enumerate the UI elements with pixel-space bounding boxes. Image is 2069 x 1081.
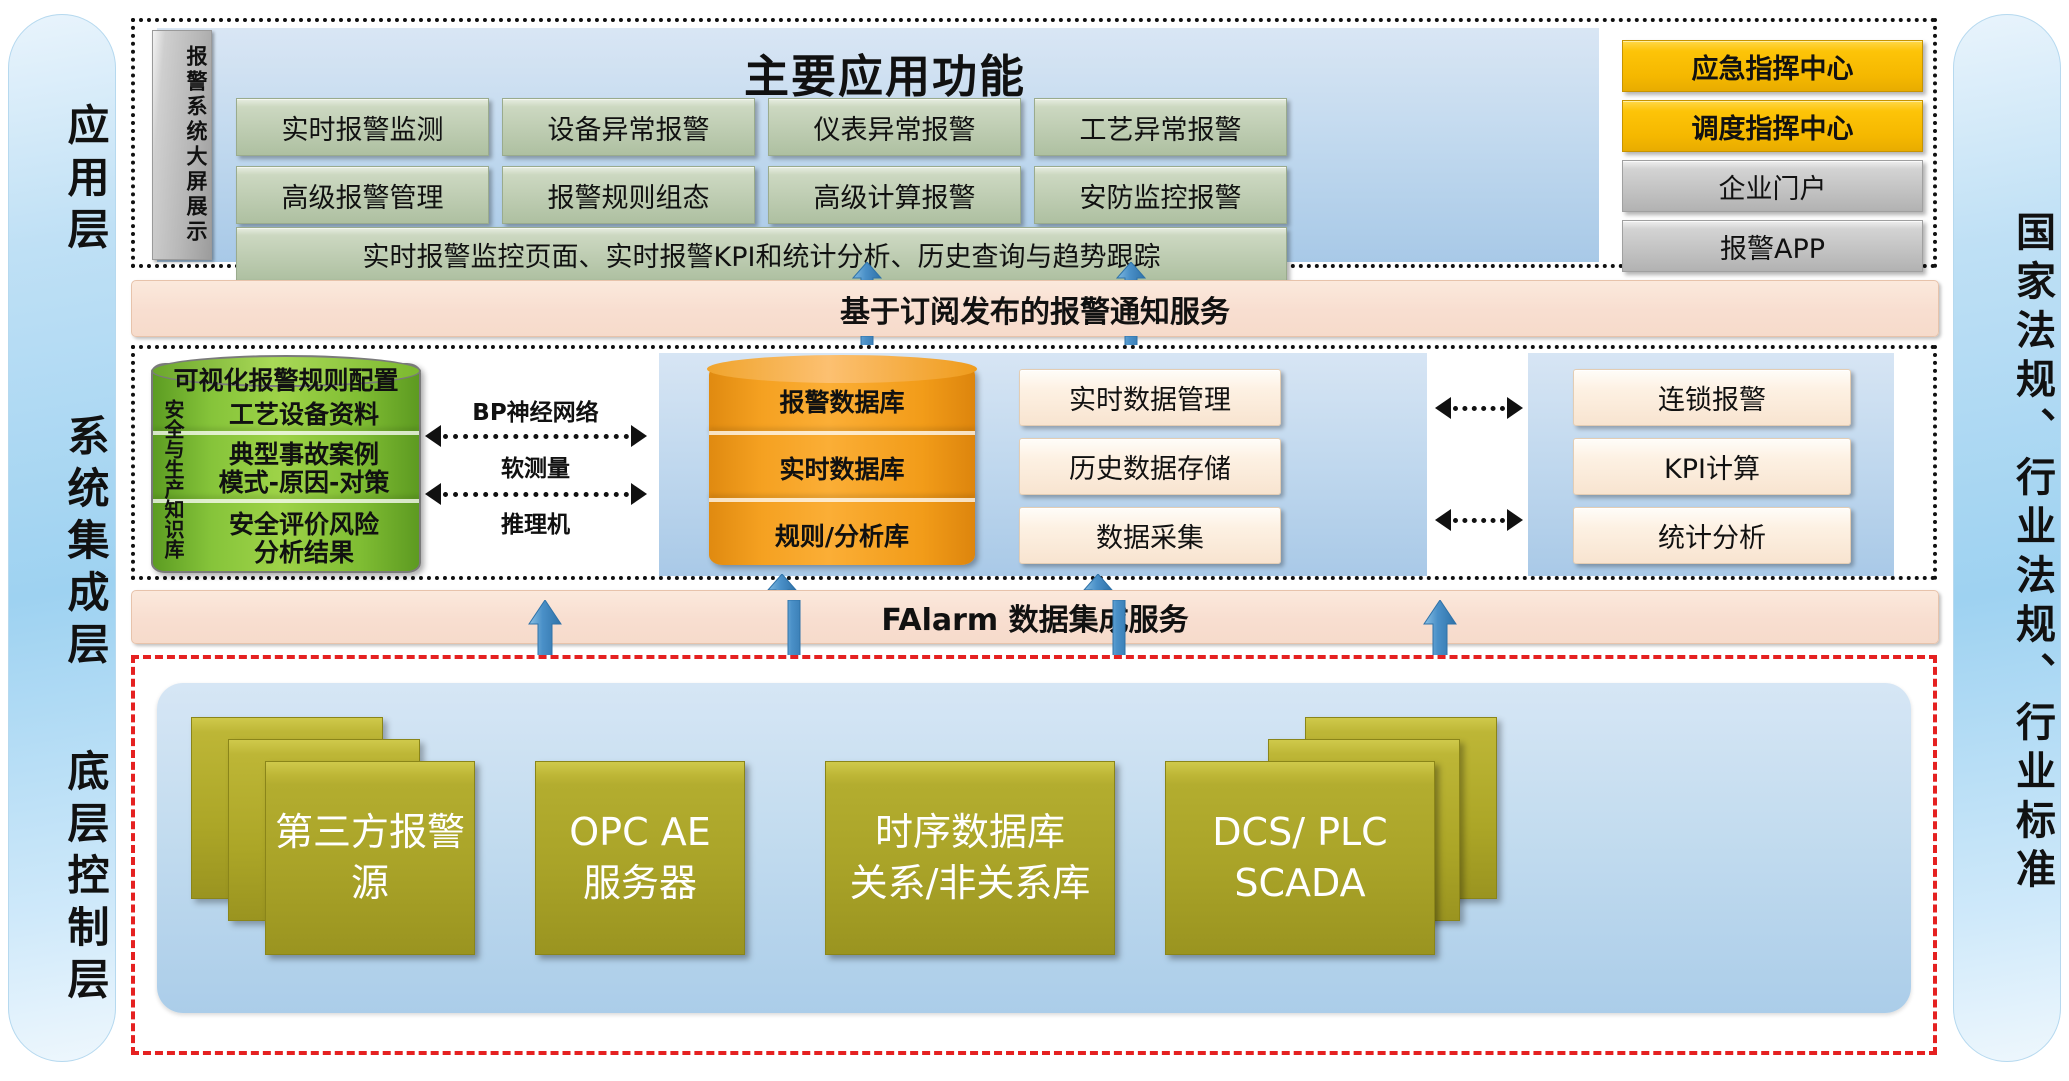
function-button-realtime-alarm-monitor[interactable]: 实时报警监测 [236,98,489,156]
analysis-button-interlock-alarm[interactable]: 连锁报警 [1573,369,1851,426]
source-box-opc-ae-server[interactable]: OPC AE 服务器 [535,761,745,955]
arrowhead-right-icon [631,483,647,505]
source-label-opc-ae-server: OPC AE 服务器 [569,807,710,910]
application-layer-container: 报警系统大屏展示 主要应用功能 实时报警监测 设备异常报警 仪表异常报警 工艺异… [131,18,1937,268]
dotted-line [443,492,629,497]
annotation-soft-measurement: 软测量 [423,449,648,483]
right-button-dispatch-command-center[interactable]: 调度指挥中心 [1622,100,1923,152]
service-button-realtime-data-management[interactable]: 实时数据管理 [1019,369,1281,426]
function-button-alarm-rule-configuration[interactable]: 报警规则组态 [502,166,755,224]
knowledge-base-cylinder[interactable]: 可视化报警规则配置 安全与生产知识库 工艺设备资料 典型事故案例 模式-原因-对… [151,363,421,573]
knowledge-base-side-label: 安全与生产知识库 [159,399,188,567]
analysis-button-kpi-calculation[interactable]: KPI计算 [1573,438,1851,495]
rail-label-application-layer: 应用层 [8,66,116,296]
right-button-emergency-command-center[interactable]: 应急指挥中心 [1622,40,1923,92]
control-layer-container: 第三方报警源 OPC AE 服务器 时序数据库 关系/非关系库 DCS/ PLC… [131,655,1937,1055]
cylinder-divider [709,498,975,502]
arrowhead-left-icon [425,425,441,447]
dotted-arrow-knowledge-left-top [425,425,647,447]
alarm-database-cylinder[interactable]: 报警数据库 实时数据库 规则/分析库 [709,365,975,565]
cylinder-divider [153,431,419,435]
arrowhead-left-icon [425,483,441,505]
dotted-arrow-center-right-top [1435,397,1523,419]
source-box-timeseries-database[interactable]: 时序数据库 关系/非关系库 [825,761,1115,955]
function-button-process-abnormal-alarm[interactable]: 工艺异常报警 [1034,98,1287,156]
knowledge-segment-accident-cases: 典型事故案例 模式-原因-对策 [189,441,419,497]
big-screen-label: 报警系统大屏展示 [153,45,211,245]
dotted-line [1453,406,1505,411]
big-screen-display-box[interactable]: 报警系统大屏展示 [152,30,212,260]
falarm-data-integration-bar: FAlarm 数据集成服务 [131,590,1939,644]
analysis-button-statistical-analysis[interactable]: 统计分析 [1573,507,1851,564]
arrowhead-right-icon [631,425,647,447]
cylinder-divider [709,431,975,435]
dotted-arrow-center-right-bottom [1435,509,1523,531]
rail-label-integration-layer: 系统集成层 [8,394,116,694]
db-segment-rule-analysis-database: 规则/分析库 [709,523,975,551]
dotted-line [1453,518,1505,523]
service-button-history-data-storage[interactable]: 历史数据存储 [1019,438,1281,495]
knowledge-segment-risk-analysis: 安全评价风险 分析结果 [189,511,419,567]
db-segment-realtime-database: 实时数据库 [709,456,975,484]
right-button-alarm-app[interactable]: 报警APP [1622,220,1923,272]
integration-layer-container: 可视化报警规则配置 安全与生产知识库 工艺设备资料 典型事故案例 模式-原因-对… [131,345,1937,580]
annotation-inference-engine: 推理机 [423,505,648,539]
annotation-bp-neural-network: BP神经网络 [423,393,648,427]
function-button-security-monitoring-alarm[interactable]: 安防监控报警 [1034,166,1287,224]
dotted-arrow-knowledge-left-bottom [425,483,647,505]
right-button-enterprise-portal[interactable]: 企业门户 [1622,160,1923,212]
service-button-data-acquisition[interactable]: 数据采集 [1019,507,1281,564]
function-button-advanced-calculation-alarm[interactable]: 高级计算报警 [768,166,1021,224]
dotted-line [443,434,629,439]
function-button-equipment-abnormal-alarm[interactable]: 设备异常报警 [502,98,755,156]
rail-label-regulations: 国家法规、行业法规、行业标准 [1953,134,2061,974]
cylinder-divider [153,499,419,503]
arrowhead-right-icon [1507,397,1523,419]
source-label-third-party-alarm: 第三方报警源 [266,807,474,910]
source-box-dcs-plc-scada[interactable]: DCS/ PLC SCADA [1165,761,1435,955]
knowledge-base-title: 可视化报警规则配置 [153,361,419,397]
source-label-dcs-plc-scada: DCS/ PLC SCADA [1212,807,1387,910]
left-rail: 应用层 系统集成层 底层控制层 [8,14,116,1062]
knowledge-segment-process-equipment: 工艺设备资料 [189,401,419,429]
db-segment-alarm-database: 报警数据库 [709,389,975,417]
source-label-timeseries-database: 时序数据库 关系/非关系库 [850,807,1091,910]
arrowhead-left-icon [1435,509,1451,531]
function-button-advanced-alarm-management[interactable]: 高级报警管理 [236,166,489,224]
right-rail: 国家法规、行业法规、行业标准 [1953,14,2061,1062]
function-button-instrument-abnormal-alarm[interactable]: 仪表异常报警 [768,98,1021,156]
cylinder-top-disc [707,355,977,383]
arrowhead-right-icon [1507,509,1523,531]
rail-label-control-layer: 底层控制层 [8,714,116,1044]
notification-service-bar: 基于订阅发布的报警通知服务 [131,280,1939,337]
source-box-third-party-alarm[interactable]: 第三方报警源 [265,761,475,955]
arrowhead-left-icon [1435,397,1451,419]
page-title: 主要应用功能 [295,40,1475,105]
